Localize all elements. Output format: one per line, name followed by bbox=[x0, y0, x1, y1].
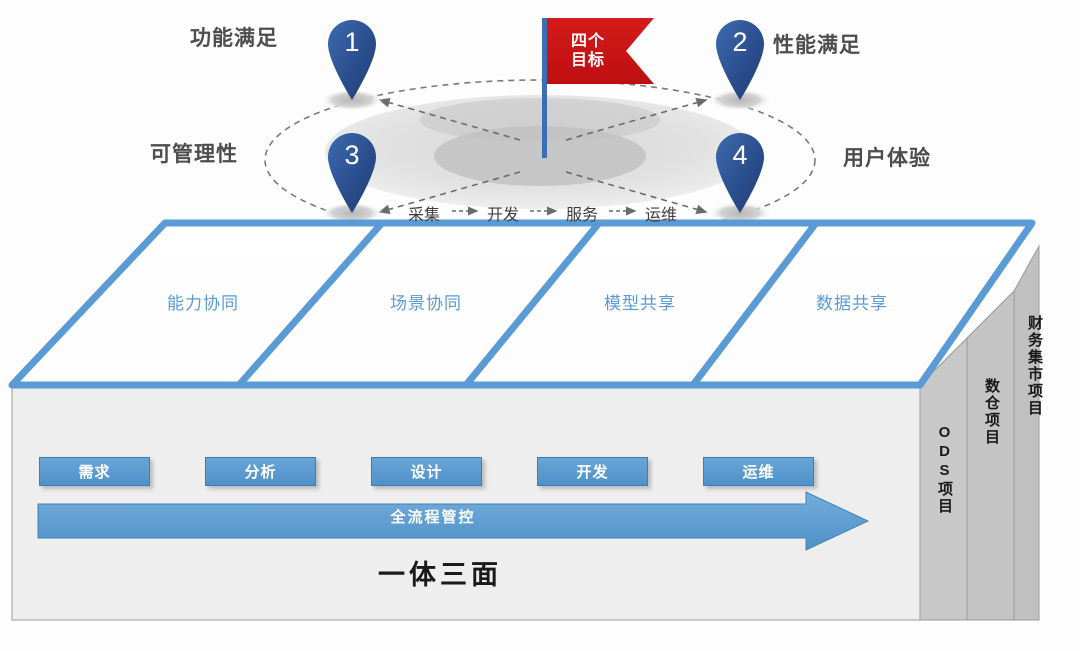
lifecycle-step-ops: 运维 bbox=[645, 201, 677, 225]
process-box-requirement[interactable]: 需求 bbox=[39, 457, 150, 486]
process-box-design[interactable]: 设计 bbox=[371, 457, 482, 486]
pin-shape bbox=[328, 20, 376, 100]
platform-shadow-ellipse bbox=[420, 98, 660, 142]
goal-label-user-experience: 用户体验 bbox=[843, 142, 931, 172]
pin-shape bbox=[716, 20, 764, 100]
pin-shape bbox=[328, 133, 376, 213]
top-cell-data-share[interactable]: 数据共享 bbox=[816, 289, 888, 314]
top-cell-scenario-sync[interactable]: 场景协同 bbox=[390, 289, 462, 314]
process-box-development[interactable]: 开发 bbox=[537, 457, 648, 486]
side-label-finance-mart-project[interactable]: 财务集市项目 bbox=[1024, 315, 1045, 417]
process-box-analysis[interactable]: 分析 bbox=[205, 457, 316, 486]
map-pin-4[interactable] bbox=[716, 133, 764, 213]
map-pin-3[interactable] bbox=[328, 133, 376, 213]
side-face-fin bbox=[1014, 246, 1039, 620]
goal-label-performance: 性能满足 bbox=[773, 29, 861, 59]
side-label-ods-project[interactable]: ODS项目 bbox=[934, 424, 955, 515]
platform-ellipse-group bbox=[325, 95, 755, 209]
map-pin-2[interactable] bbox=[716, 20, 764, 100]
map-pin-1[interactable] bbox=[328, 20, 376, 100]
goal-label-functional: 功能满足 bbox=[190, 22, 278, 52]
top-cell-model-share[interactable]: 模型共享 bbox=[604, 289, 676, 314]
flag-label: 四个目标 bbox=[565, 32, 611, 70]
process-box-operations[interactable]: 运维 bbox=[703, 457, 814, 486]
flag-pole bbox=[542, 18, 547, 158]
lifecycle-step-collect: 采集 bbox=[408, 201, 440, 225]
top-cell-capability-sync[interactable]: 能力协同 bbox=[167, 289, 239, 314]
flow-arrow-label: 全流程管控 bbox=[38, 506, 828, 527]
lifecycle-step-service: 服务 bbox=[566, 201, 598, 225]
lifecycle-step-develop: 开发 bbox=[487, 201, 519, 225]
diagram-canvas: 功能满足 性能满足 可管理性 用户体验 1 2 3 4 四个目标 采集 开发 服… bbox=[0, 0, 1080, 651]
pin-shape bbox=[716, 133, 764, 213]
side-label-dw-project[interactable]: 数仓项目 bbox=[981, 378, 1002, 446]
goal-label-manageability: 可管理性 bbox=[150, 138, 238, 168]
diagram-bottom-title: 一体三面 bbox=[0, 553, 880, 592]
side-face-dw bbox=[967, 291, 1014, 620]
